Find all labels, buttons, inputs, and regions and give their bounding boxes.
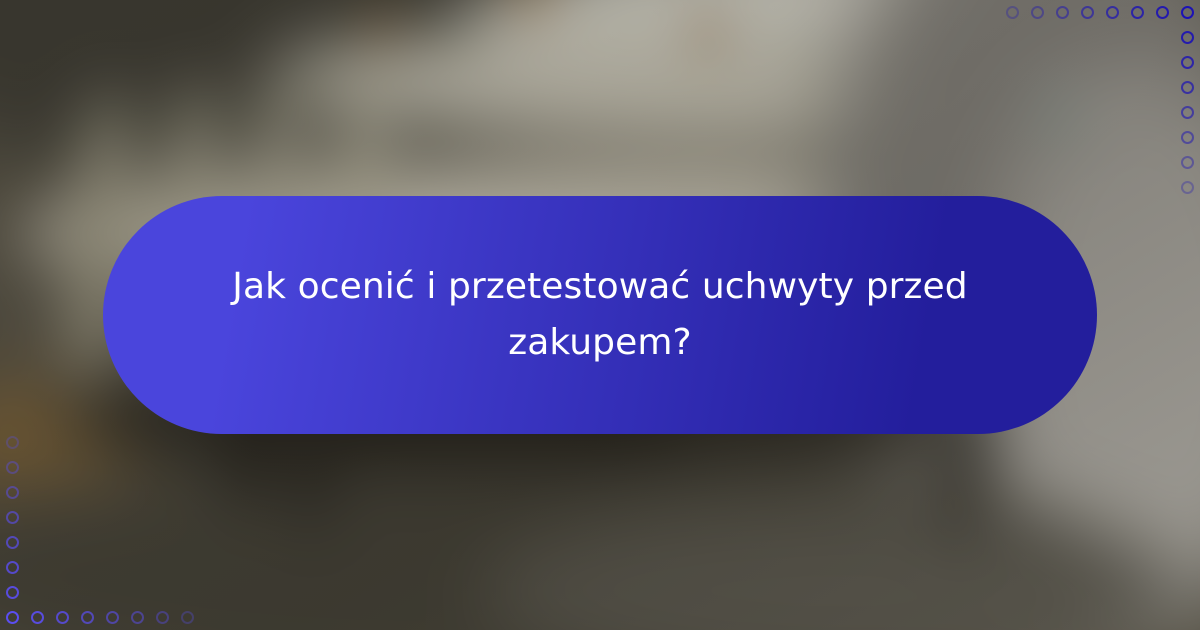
social-card: Jak ocenić i przetestować uchwyty przed …: [0, 0, 1200, 630]
decorative-dot: [56, 611, 69, 624]
page-title: Jak ocenić i przetestować uchwyty przed …: [171, 259, 1029, 371]
decorative-dot: [6, 461, 19, 474]
title-banner: Jak ocenić i przetestować uchwyty przed …: [103, 196, 1097, 434]
decorative-dot: [81, 611, 94, 624]
decorative-dot: [31, 611, 44, 624]
decorative-dot: [181, 611, 194, 624]
decorative-dot: [6, 486, 19, 499]
decorative-dot: [106, 611, 119, 624]
decorative-dot: [6, 586, 19, 599]
decorative-dot: [6, 536, 19, 549]
decorative-dot: [131, 611, 144, 624]
decorative-dot: [6, 611, 19, 624]
decorative-dot: [6, 561, 19, 574]
decorative-dot: [156, 611, 169, 624]
decorative-dot: [6, 436, 19, 449]
decorative-dot: [6, 511, 19, 524]
